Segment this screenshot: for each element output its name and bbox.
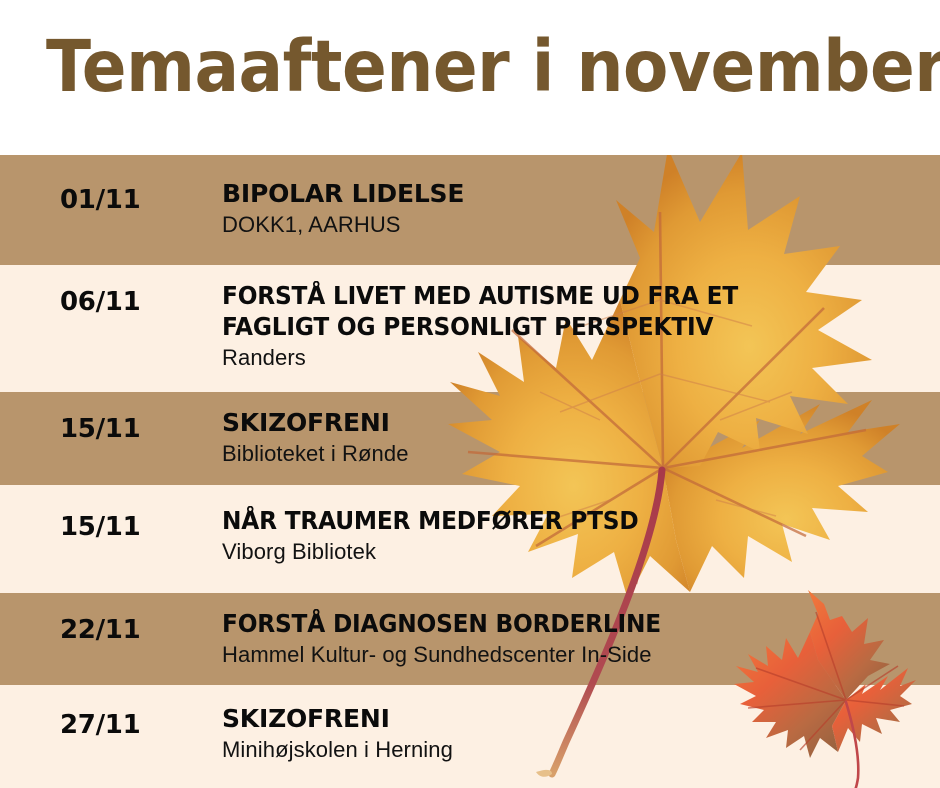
event-row-5[interactable]: 22/11 FORSTÅ DIAGNOSEN BORDERLINE Hammel… [0, 593, 940, 685]
event-body: SKIZOFRENI Minihøjskolen i Herning [222, 703, 930, 764]
event-row-2[interactable]: 06/11 FORSTÅ LIVET MED AUTISME UD FRA ET… [0, 265, 940, 392]
event-title-line-1: FORSTÅ DIAGNOSEN BORDERLINE [222, 608, 880, 639]
poster-header: Temaaftener i november [0, 0, 940, 155]
event-date: 01/11 [60, 185, 140, 215]
event-date: 15/11 [60, 414, 140, 444]
event-date: 15/11 [60, 512, 140, 542]
event-venue: DOKK1, AARHUS [222, 211, 930, 239]
event-title-line-1: SKIZOFRENI [222, 407, 930, 438]
event-venue: Hammel Kultur- og Sundhedscenter In-Side [222, 641, 930, 669]
event-row-6[interactable]: 27/11 SKIZOFRENI Minihøjskolen i Herning [0, 685, 940, 788]
event-body: BIPOLAR LIDELSE DOKK1, AARHUS [222, 178, 930, 239]
event-venue: Viborg Bibliotek [222, 538, 930, 566]
event-date: 22/11 [60, 615, 140, 645]
event-title-line-1: BIPOLAR LIDELSE [222, 178, 930, 209]
event-venue: Biblioteket i Rønde [222, 440, 930, 468]
page-title: Temaaftener i november [46, 24, 940, 110]
event-title-line-1: NÅR TRAUMER MEDFØRER PTSD [222, 505, 880, 536]
event-body: SKIZOFRENI Biblioteket i Rønde [222, 407, 930, 468]
event-title-line-1: FORSTÅ LIVET MED AUTISME UD FRA ET [222, 280, 880, 311]
event-title-line-1: SKIZOFRENI [222, 703, 930, 734]
event-date: 06/11 [60, 287, 140, 317]
event-body: NÅR TRAUMER MEDFØRER PTSD Viborg Bibliot… [222, 505, 930, 566]
event-date: 27/11 [60, 710, 140, 740]
event-row-3[interactable]: 15/11 SKIZOFRENI Biblioteket i Rønde [0, 392, 940, 485]
event-venue: Minihøjskolen i Herning [222, 736, 930, 764]
event-venue: Randers [222, 344, 930, 372]
event-title-line-2: FAGLIGT OG PERSONLIGT PERSPEKTIV [222, 311, 880, 342]
event-body: FORSTÅ DIAGNOSEN BORDERLINE Hammel Kultu… [222, 608, 930, 669]
event-row-4[interactable]: 15/11 NÅR TRAUMER MEDFØRER PTSD Viborg B… [0, 485, 940, 593]
event-body: FORSTÅ LIVET MED AUTISME UD FRA ET FAGLI… [222, 280, 930, 372]
poster-root: 01/11 BIPOLAR LIDELSE DOKK1, AARHUS 06/1… [0, 0, 940, 788]
event-row-1[interactable]: 01/11 BIPOLAR LIDELSE DOKK1, AARHUS [0, 155, 940, 265]
